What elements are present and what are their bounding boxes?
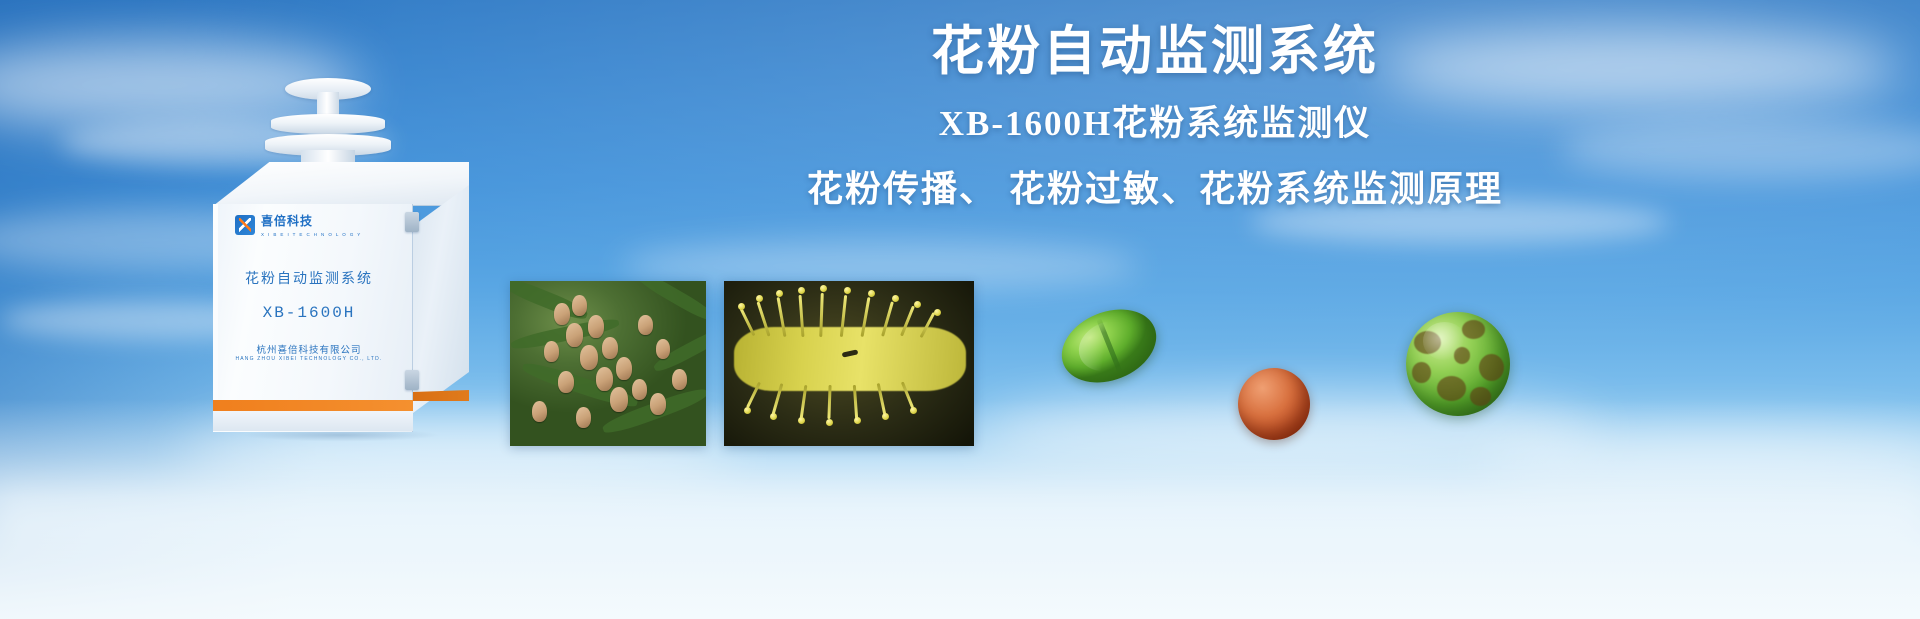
air-inlet-ring xyxy=(271,114,385,134)
cabinet-panel-model: XB-1600H xyxy=(205,304,413,322)
pollen-highlight xyxy=(1423,322,1467,359)
headline-block: 花粉自动监测系统 XB-1600H花粉系统监测仪 花粉传播、 花粉过敏、花粉系统… xyxy=(560,22,1750,211)
spiky-echinate-pollen-grain xyxy=(1222,352,1326,456)
cabinet-company-cn: 杭州喜倍科技有限公司 xyxy=(205,342,413,356)
page-title: 花粉自动监测系统 xyxy=(560,22,1750,81)
cabinet-latch-icon xyxy=(405,212,419,232)
cabinet-base xyxy=(213,411,413,431)
cabinet-top xyxy=(213,162,469,206)
pollen-furrow xyxy=(1096,318,1122,373)
cabinet-company-en: HANG ZHOU XIBEI TECHNOLOGY CO., LTD. xyxy=(205,356,413,362)
photo-yellow-catkin xyxy=(724,281,974,446)
cabinet-panel-title: 花粉自动监测系统 xyxy=(205,268,413,288)
brand-logo: 喜倍科技 X I B E I T E C H N O L O G Y xyxy=(235,212,362,238)
round-reticulate-pollen-grain xyxy=(1406,312,1510,416)
pollen-body xyxy=(1238,368,1310,440)
banner-stage: 花粉自动监测系统 XB-1600H花粉系统监测仪 花粉传播、 花粉过敏、花粉系统… xyxy=(0,0,1920,619)
instrument-cabinet: 喜倍科技 X I B E I T E C H N O L O G Y 花粉自动监… xyxy=(205,78,475,423)
brand-logo-text: 喜倍科技 X I B E I T E C H N O L O G Y xyxy=(261,212,362,238)
photo-conifer-pollen-cones xyxy=(510,281,706,446)
brand-name-en: X I B E I T E C H N O L O G Y xyxy=(261,233,362,238)
brand-name-cn: 喜倍科技 xyxy=(261,214,313,228)
cabinet-latch-icon xyxy=(405,370,419,390)
product-subtitle: XB-1600H花粉系统监测仪 xyxy=(560,103,1750,145)
xibei-logo-icon xyxy=(235,215,255,235)
cabinet-side xyxy=(413,185,469,413)
cabinet-accent-stripe xyxy=(213,400,413,411)
feature-tagline: 花粉传播、 花粉过敏、花粉系统监测原理 xyxy=(560,167,1750,210)
catkin-axis xyxy=(734,327,966,391)
